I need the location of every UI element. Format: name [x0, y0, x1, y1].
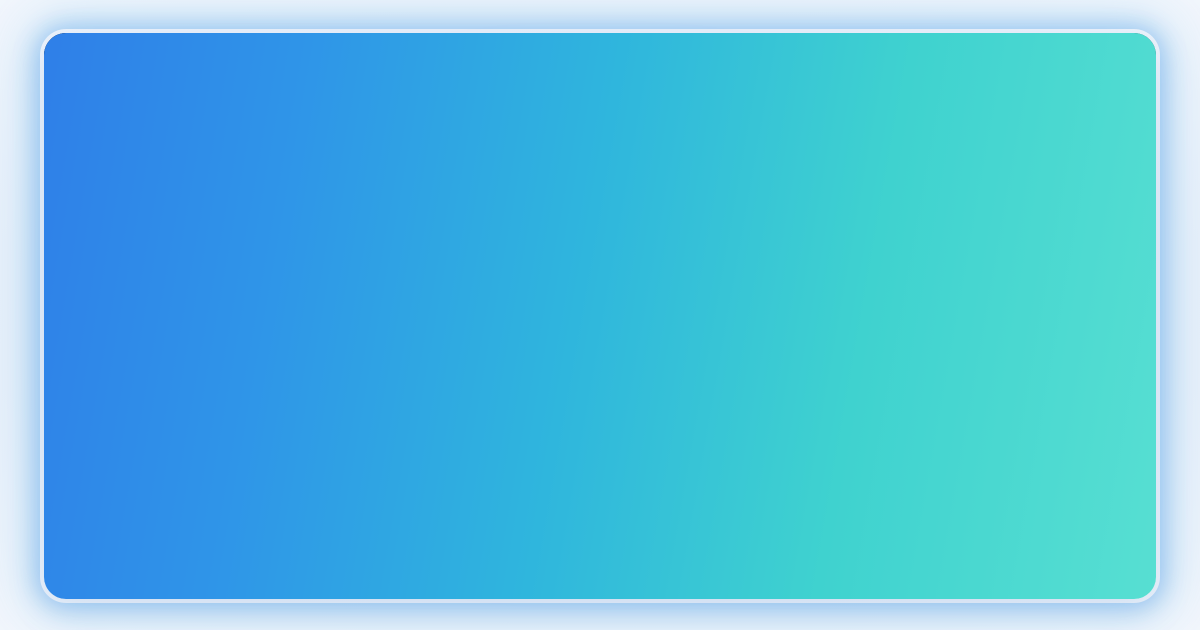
title-card: AI 面接支援ツール【2026年最新】｜5つ の選び方とメリットを徹底解説！ ス… [85, 341, 1115, 554]
page-subtitle: スカウト採用研究所 [119, 497, 1081, 529]
data-columns-decor [174, 246, 364, 318]
hero-accent-bar [44, 318, 1156, 325]
circuit-brain-icon [684, 89, 924, 274]
brain-outline-icon [1055, 115, 1107, 161]
brain-ai-label: AI [778, 245, 804, 274]
chip-ai-label: AI [246, 174, 338, 208]
hero-banner: AI [44, 33, 1156, 318]
ai-chip: AI [245, 143, 339, 237]
brain-outline-icon [1055, 260, 1107, 306]
og-image-page: AI [0, 0, 1200, 630]
node-network-icon [374, 121, 589, 281]
page-title: AI 面接支援ツール【2026年最新】｜5つ の選び方とメリットを徹底解説！ [119, 363, 1081, 483]
footer-credit: AI活用 ｜ produced by Michibiku Group [44, 567, 1156, 588]
card-body: AI 面接支援ツール【2026年最新】｜5つ の選び方とメリットを徹底解説！ ス… [44, 325, 1156, 599]
main-card: AI [44, 33, 1156, 599]
